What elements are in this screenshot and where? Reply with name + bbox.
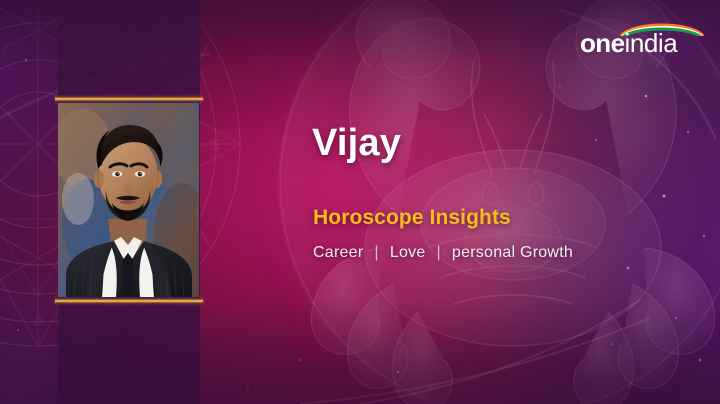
oneindia-logo[interactable]: oneindia [580, 20, 706, 62]
logo-text-india: india [624, 28, 677, 58]
logo-wordmark: oneindia [580, 30, 677, 56]
gold-divider-top [55, 97, 203, 101]
headline: Horoscope Insights [313, 207, 511, 228]
tagline-item-personal-growth: personal Growth [452, 245, 573, 261]
portrait-photo [58, 103, 199, 297]
logo-text-one: one [580, 28, 624, 58]
tagline-separator-2: | [426, 245, 452, 261]
tagline-item-career: Career [313, 245, 363, 261]
tagline-separator-1: | [363, 245, 389, 261]
gold-divider-bottom [55, 299, 203, 303]
tagline-item-love: Love [390, 245, 426, 261]
page-title: Vijay [312, 124, 401, 162]
avatar [58, 103, 199, 297]
tagline: Career | Love | personal Growth [313, 245, 573, 261]
horoscope-promo-card: ♈♉ ♊♋ ♌♍ ♎♏ ♐♑ ♒♓ [0, 0, 720, 404]
